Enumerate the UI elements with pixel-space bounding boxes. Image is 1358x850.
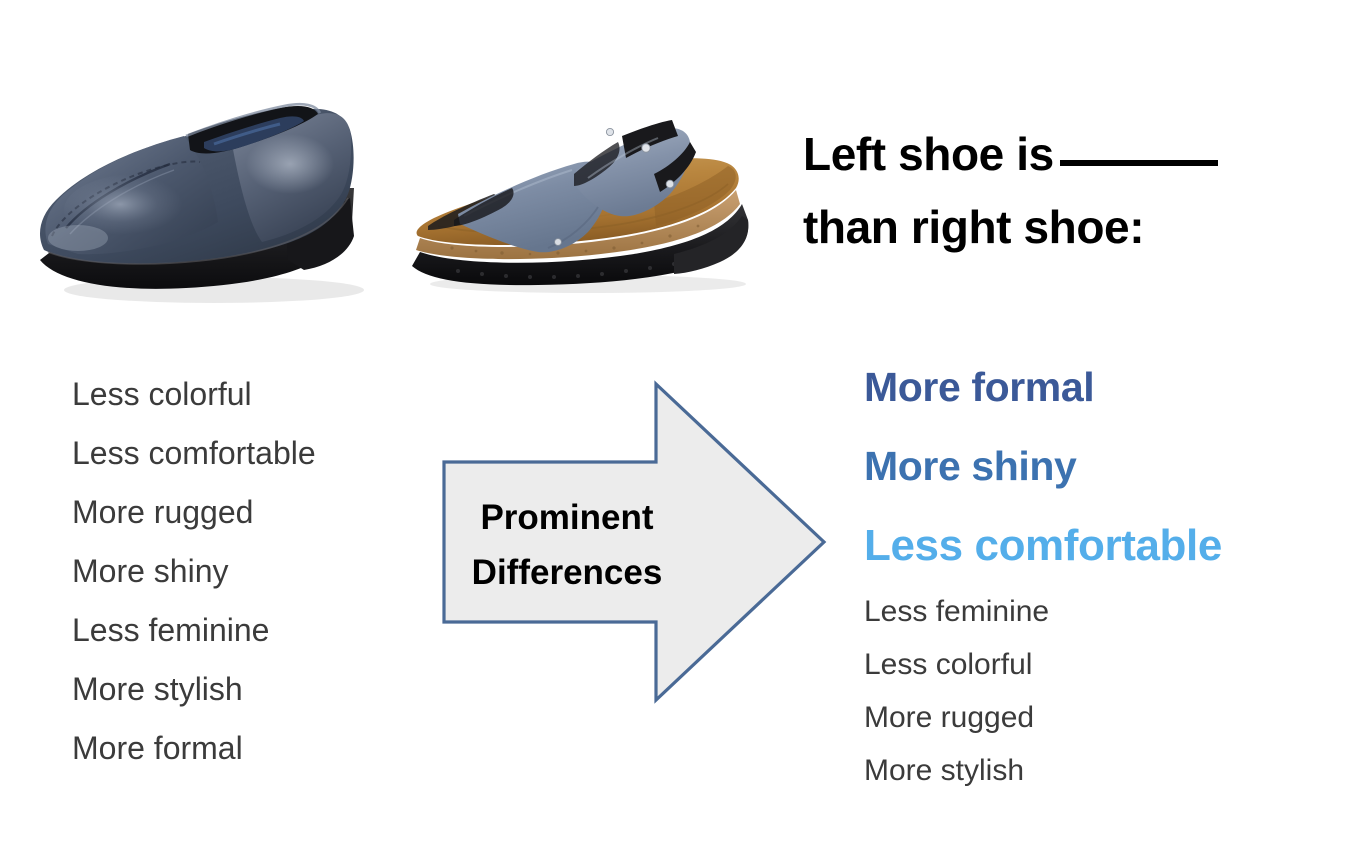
blank-fill-in-underline: [1060, 160, 1218, 166]
list-item: Less colorful: [864, 638, 1354, 691]
list-item: More stylish: [72, 660, 412, 719]
list-item: Less feminine: [864, 585, 1354, 638]
list-item: More formal: [72, 719, 412, 778]
list-item: More stylish: [864, 744, 1354, 797]
prominent-differences-arrow: Prominent Differences: [436, 372, 832, 712]
heading-line-1-text: Left shoe is: [803, 128, 1054, 180]
list-item-ranked: More formal: [864, 348, 1354, 427]
list-item: More rugged: [864, 691, 1354, 744]
left-attribute-list: Less colorful Less comfortable More rugg…: [72, 365, 412, 778]
right-shoe-image: [398, 108, 762, 300]
left-shoe-image: [18, 38, 398, 316]
list-item: Less feminine: [72, 601, 412, 660]
list-item: More shiny: [72, 542, 412, 601]
heading-line-1: Left shoe is: [803, 118, 1348, 191]
shoe-comparison-figure: Left shoe is than right shoe: Less color…: [0, 0, 1358, 850]
arrow-label-line-2: Differences: [452, 545, 682, 600]
list-item: Less colorful: [72, 365, 412, 424]
arrow-label-line-1: Prominent: [452, 490, 682, 545]
right-attribute-list: More formal More shiny Less comfortable …: [864, 348, 1354, 797]
heading-line-2: than right shoe:: [803, 191, 1348, 264]
list-item-ranked: More shiny: [864, 427, 1354, 506]
page-title: Left shoe is than right shoe:: [803, 118, 1348, 263]
arrow-label: Prominent Differences: [452, 490, 682, 600]
list-item: Less comfortable: [72, 424, 412, 483]
list-item-ranked: Less comfortable: [864, 506, 1354, 585]
list-item: More rugged: [72, 483, 412, 542]
